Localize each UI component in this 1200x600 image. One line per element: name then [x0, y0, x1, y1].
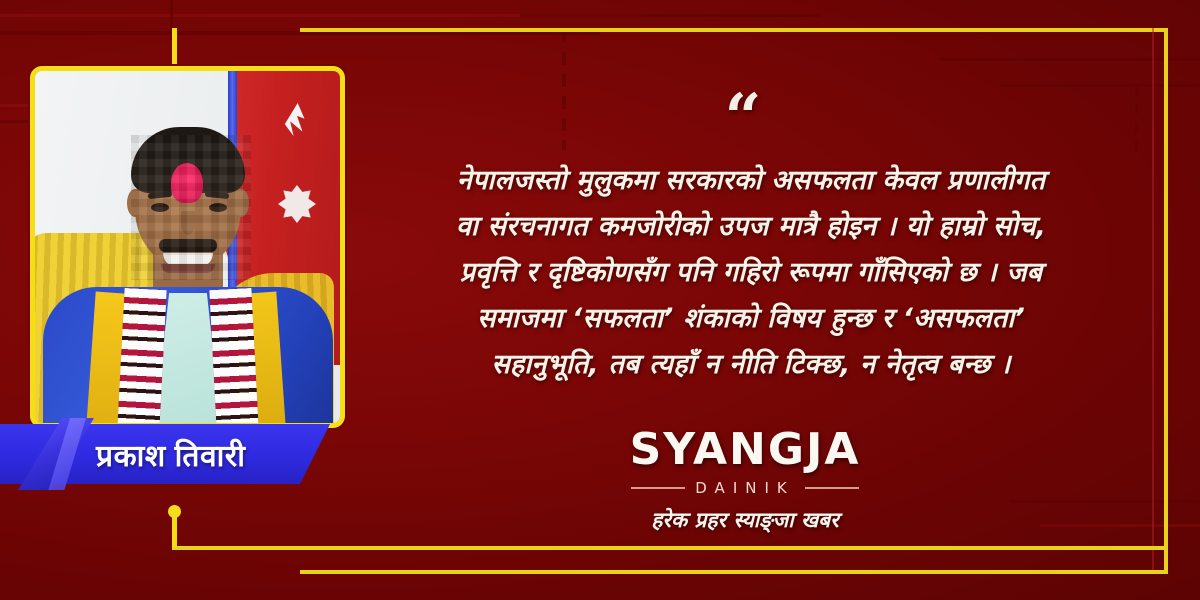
brand-logo: SYANGJA DAINIK हरेक प्रहर स्याङ्जा खबर	[560, 428, 930, 534]
accent-line-bottom	[172, 546, 1168, 550]
logo-rule-right	[805, 487, 859, 489]
frame-top-border	[300, 28, 1168, 32]
quote-line: समाजमा ‘सफलता’ शंकाको विषय हुन्छ र ‘असफल…	[336, 296, 1166, 342]
watermark-line	[1000, 84, 1200, 87]
brand-subtitle: DAINIK	[695, 479, 794, 497]
watermark-dashed-line	[1135, 84, 1138, 154]
frame-bottom-border	[300, 570, 1168, 574]
quote-line: नेपालजस्तो मुलुकमा सरकारको असफलता केवल प…	[336, 158, 1166, 204]
watermark-dashed-line	[562, 30, 566, 150]
person-name: प्रकाश तिवारी	[96, 434, 245, 475]
quote-line: सहानुभूति, तब त्यहाँ न नीति टिक्छ, न नेत…	[336, 342, 1166, 388]
quote-line: प्रवृत्ति र दृष्टिकोणसँग पनि गहिरो रूपमा…	[336, 250, 1166, 296]
portrait-photo	[35, 71, 340, 423]
dhaka-scarf-right	[209, 288, 258, 428]
quotation-mark-icon: “	[683, 86, 803, 150]
quote-line: वा संरचनागत कमजोरीको उपज मात्रै होइन । य…	[336, 204, 1166, 250]
dhaka-scarf-left	[117, 288, 166, 428]
brand-name: SYANGJA	[560, 428, 930, 472]
quote-text: नेपालजस्तो मुलुकमा सरकारको असफलता केवल प…	[336, 158, 1166, 388]
pixelation-overlay	[131, 135, 251, 280]
flag-sun-symbol	[278, 185, 316, 223]
watermark-line	[1040, 524, 1200, 527]
portrait-frame	[30, 66, 345, 428]
accent-dot-bottom	[168, 505, 181, 518]
logo-rule-left	[631, 487, 685, 489]
watermark-line	[1010, 500, 1200, 503]
brand-subtitle-row: DAINIK	[560, 479, 930, 497]
quote-card: प्रकाश तिवारी “ नेपालजस्तो मुलुकमा सरकार…	[0, 0, 1200, 600]
watermark-line	[940, 58, 1200, 61]
watermark-line	[520, 14, 820, 17]
brand-tagline: हरेक प्रहर स्याङ्जा खबर	[560, 506, 930, 534]
